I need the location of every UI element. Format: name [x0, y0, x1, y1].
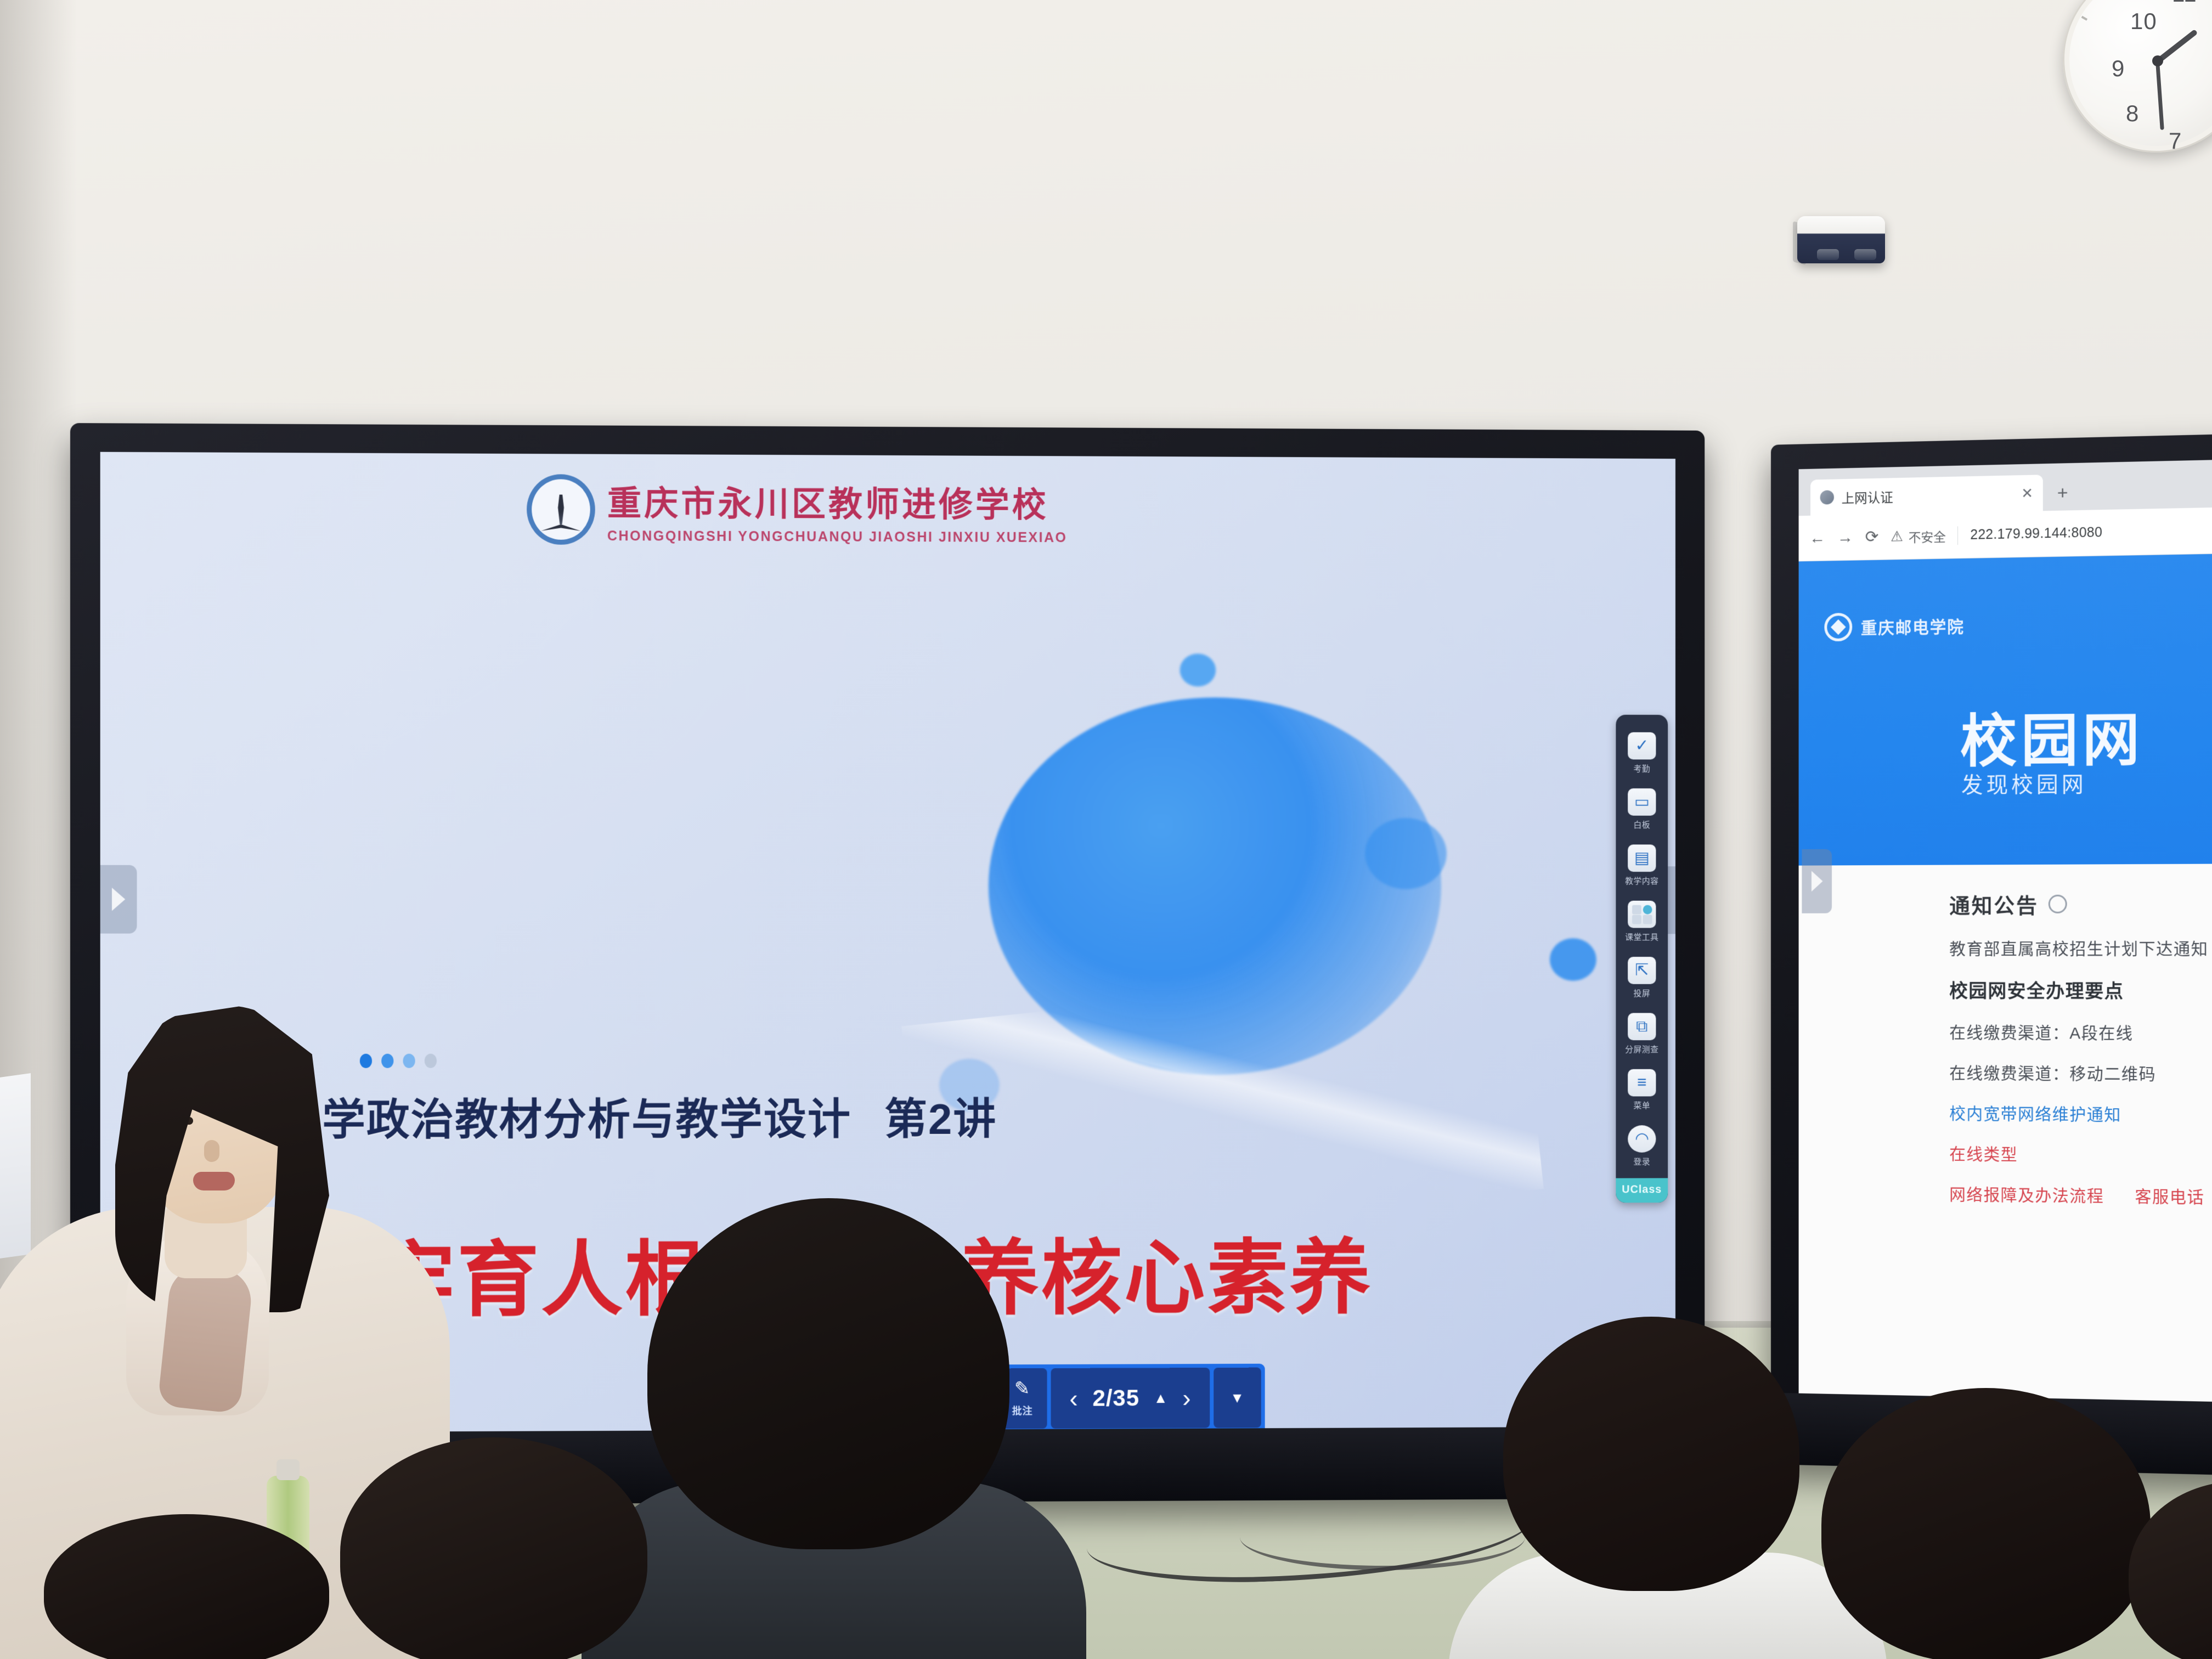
browser-tab-bar[interactable]: 上网认证 ✕ + [1799, 458, 2212, 516]
slide-main-title: 铸牢育人根基 培养核心素养 [289, 1211, 1550, 1332]
left-drawer-handle[interactable] [100, 865, 137, 934]
content-icon: ▤ [1628, 844, 1656, 872]
chevron-right-icon [112, 888, 125, 911]
tool-item-apps[interactable]: 课堂工具 [1616, 894, 1668, 950]
browser-tab-title: 上网认证 [1842, 487, 1893, 507]
slide-lecture-number: 第2讲 [884, 1095, 997, 1143]
clock-numeral-7: 7 [2169, 128, 2182, 154]
close-tab-icon[interactable]: ✕ [2021, 484, 2033, 501]
list-item[interactable]: 网络报障及办法流程 [1949, 1181, 2104, 1207]
tool-label: 教学内容 [1625, 875, 1658, 887]
tool-label: 投屏 [1633, 988, 1650, 999]
wall-camera-device [1793, 211, 1892, 268]
tool-label: 考勤 [1633, 763, 1650, 774]
dot-icon [425, 1054, 437, 1068]
list-item[interactable]: 在线类型 [1949, 1141, 2212, 1168]
school-seal-icon [527, 474, 595, 545]
camera-lens-icon [1854, 249, 1876, 260]
tool-label: 菜单 [1633, 1099, 1650, 1111]
prev-slide-button[interactable]: ‹ [1069, 1384, 1078, 1413]
secondary-display-chin [1771, 1393, 2212, 1476]
chevron-right-icon [1811, 871, 1822, 891]
camera-lens-icon [1817, 249, 1839, 260]
decorative-dot [1550, 938, 1596, 981]
pen-icon: ✎ [1014, 1379, 1030, 1398]
notice-heading: 通知公告 [1949, 889, 2039, 919]
menu-icon: ≡ [1628, 1069, 1656, 1097]
presentation-slide: 重庆市永川区教师进修学校 CHONGQINGSHI YONGCHUANQU JI… [100, 452, 1675, 1433]
collapse-toolbar-button[interactable]: ▼ [1214, 1368, 1261, 1428]
checkin-icon: ✓ [1628, 732, 1656, 760]
annotation-tool-label: 批注 [1012, 1403, 1033, 1418]
reload-icon[interactable]: ⟳ [1865, 527, 1879, 546]
clock-tick [2081, 16, 2088, 21]
secondary-display-screen[interactable]: 上网认证 ✕ + ← → ⟳ ⚠ 不安全 22 [1799, 458, 2212, 1415]
divider [1957, 526, 1958, 545]
list-item[interactable]: 教育部直属高校招生计划下达通知 [1949, 935, 2212, 960]
notice-list[interactable]: 教育部直属高校招生计划下达通知 校园网安全办理要点 在线缴费渠道：A段在线 在线… [1949, 935, 2212, 1209]
more-icon[interactable] [2049, 894, 2067, 913]
tool-item-account[interactable]: ◠ 登录 [1616, 1119, 1668, 1175]
tool-label: 分屏测查 [1625, 1043, 1658, 1055]
site-hero-banner: 重庆邮电学院 校园网 发现校园网 [1799, 552, 2212, 865]
teaching-tool-rail[interactable]: ✓ 考勤 ▭ 白板 ▤ 教学内容 课堂工具 [1616, 715, 1668, 1203]
warning-icon: ⚠ [1891, 528, 1903, 545]
tool-label: 白板 [1633, 819, 1650, 831]
list-item[interactable]: 在线缴费渠道：移动二维码 [1949, 1059, 2212, 1085]
favicon-icon [1820, 490, 1834, 504]
clock-numeral-10: 10 [2130, 8, 2157, 35]
tool-item-split-screen[interactable]: ⧉ 分屏测查 [1616, 1006, 1668, 1062]
clock-center-hub [2152, 55, 2163, 66]
tool-item-content[interactable]: ▤ 教学内容 [1616, 838, 1668, 894]
wall-shadow [0, 0, 77, 1372]
site-hero-subtitle: 发现校园网 [1961, 766, 2087, 799]
security-badge[interactable]: ⚠ 不安全 [1891, 526, 1946, 546]
slide-page-navigation[interactable]: ✎ 批注 ‹ 2/35 ▲ › ▼ [994, 1364, 1265, 1433]
browser-tab[interactable]: 上网认证 ✕ [1810, 475, 2043, 516]
display-screen[interactable]: 重庆市永川区教师进修学校 CHONGQINGSHI YONGCHUANQU JI… [100, 452, 1675, 1433]
split-screen-icon: ⧉ [1628, 1013, 1656, 1040]
back-icon[interactable]: ← [1809, 529, 1825, 548]
camera-body [1797, 216, 1885, 263]
classroom-scene: 11 10 9 8 7 [0, 0, 2212, 1659]
decorative-dot [1365, 818, 1447, 889]
slide-dot-decoration [360, 1054, 437, 1068]
clock-numeral-11: 11 [2172, 0, 2197, 7]
notice-heading-row: 通知公告 [1949, 888, 2212, 919]
clock-numeral-8: 8 [2126, 100, 2139, 127]
site-brand[interactable]: 重庆邮电学院 [1824, 611, 1965, 642]
dot-icon [360, 1054, 372, 1068]
apps-icon [1628, 901, 1656, 928]
whiteboard-icon: ▭ [1628, 788, 1656, 816]
dot-icon [403, 1054, 415, 1068]
school-name-pinyin: CHONGQINGSHI YONGCHUANQU JIAOSHI JINXIU … [607, 528, 1068, 546]
dot-icon [381, 1054, 393, 1068]
tool-item-cast[interactable]: ⇱ 投屏 [1616, 950, 1668, 1006]
site-brand-name: 重庆邮电学院 [1861, 613, 1965, 639]
site-notice-section: 通知公告 教育部直属高校招生计划下达通知 校园网安全办理要点 在线缴费渠道：A段… [1799, 864, 2212, 1415]
clock-minute-hand [2155, 59, 2164, 130]
secondary-left-drawer-handle[interactable] [1802, 849, 1832, 913]
secondary-display-bezel: 上网认证 ✕ + ← → ⟳ ⚠ 不安全 22 [1771, 433, 2212, 1476]
secondary-display[interactable]: 上网认证 ✕ + ← → ⟳ ⚠ 不安全 22 [1771, 433, 2212, 1476]
display-chin [70, 1426, 1705, 1506]
display-brand-bar [827, 1477, 959, 1488]
tool-rail-brand: UClass [1616, 1178, 1668, 1203]
decorative-dot [1180, 653, 1216, 686]
list-item[interactable]: 校内宽带网络维护通知 [1949, 1100, 2212, 1127]
list-item[interactable]: 客服电话 [2135, 1183, 2204, 1208]
next-slide-button[interactable]: › [1182, 1383, 1191, 1413]
torch-icon [551, 495, 570, 524]
clock-numeral-9: 9 [2112, 55, 2125, 82]
page-counter: 2/35 [1093, 1385, 1139, 1411]
tool-label: 课堂工具 [1625, 931, 1658, 943]
new-tab-button[interactable]: + [2043, 482, 2083, 511]
annotation-tool-button[interactable]: ✎ 批注 [998, 1368, 1047, 1429]
school-name-cn: 重庆市永川区教师进修学校 [607, 475, 1068, 526]
tool-item-menu[interactable]: ≡ 菜单 [1616, 1063, 1668, 1119]
slide-subtitle: 中学政治教材分析与教学设计第2讲 [278, 1085, 997, 1148]
slide-title-right: 培养核心素养 [874, 1211, 1373, 1330]
tool-label: 登录 [1633, 1156, 1650, 1167]
forward-icon[interactable]: → [1837, 528, 1853, 547]
display-bezel: 重庆市永川区教师进修学校 CHONGQINGSHI YONGCHUANQU JI… [70, 423, 1705, 1506]
site-logo-icon [1824, 613, 1852, 641]
account-icon: ◠ [1628, 1125, 1656, 1153]
slide-title-left: 铸牢育人根基 [289, 1212, 792, 1332]
site-hero-title: 校园网 [1960, 693, 2144, 778]
cast-icon: ⇱ [1628, 957, 1656, 984]
url-text[interactable]: 222.179.99.144:8080 [1970, 524, 2102, 543]
security-label: 不安全 [1909, 526, 1946, 545]
page-counter-group[interactable]: ‹ 2/35 ▲ › [1051, 1368, 1210, 1429]
page-up-button[interactable]: ▲ [1154, 1390, 1169, 1407]
list-item[interactable]: 在线缴费渠道：A段在线 [1949, 1019, 2212, 1045]
tool-item-whiteboard[interactable]: ▭ 白板 [1616, 782, 1668, 838]
chrome-browser-window[interactable]: 上网认证 ✕ + ← → ⟳ ⚠ 不安全 22 [1799, 458, 2212, 1415]
list-item[interactable]: 校园网安全办理要点 [1949, 976, 2212, 1003]
tool-item-checkin[interactable]: ✓ 考勤 [1616, 726, 1668, 782]
main-interactive-display[interactable]: 重庆市永川区教师进修学校 CHONGQINGSHI YONGCHUANQU JI… [70, 423, 1705, 1506]
school-logo: 重庆市永川区教师进修学校 CHONGQINGSHI YONGCHUANQU JI… [527, 468, 1142, 552]
chevron-down-icon: ▼ [1230, 1389, 1245, 1406]
slide-subtitle-text: 中学政治教材分析与教学设计 [278, 1095, 851, 1144]
